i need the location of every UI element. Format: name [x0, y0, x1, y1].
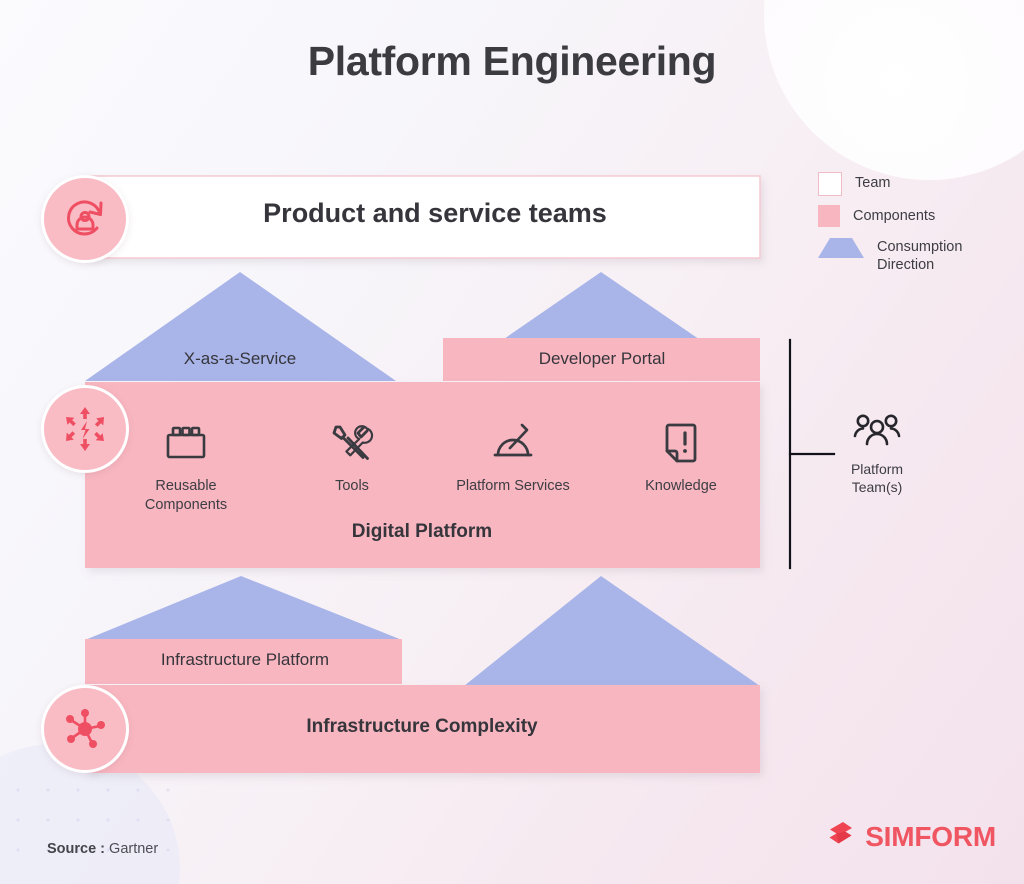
document-alert-icon — [611, 418, 751, 468]
label-digital-platform: Digital Platform — [262, 521, 582, 543]
source-value: Gartner — [109, 841, 158, 857]
service-bell-icon — [443, 418, 583, 468]
label-infrastructure-complexity: Infrastructure Complexity — [120, 716, 724, 738]
legend-item-components: Components — [818, 205, 1008, 227]
legend-swatch-consumption-triangle-icon — [818, 238, 864, 258]
platform-feature-label: Reusable Components — [116, 477, 256, 514]
legend-item-consumption-direction: Consumption Direction — [818, 236, 1008, 274]
platform-team-label-line2: Team(s) — [822, 478, 932, 496]
platform-feature-label: Knowledge — [611, 477, 751, 496]
lego-brick-icon — [116, 418, 256, 468]
platform-feature-reusable-components: Reusable Components — [116, 418, 256, 514]
legend-label-team: Team — [855, 172, 890, 192]
page-title: Platform Engineering — [0, 38, 1024, 85]
label-product-service-teams: Product and service teams — [110, 198, 760, 229]
legend-label-consumption-direction: Consumption Direction — [877, 236, 982, 274]
brand-wordmark: SIMFORM — [865, 821, 996, 853]
user-refresh-icon — [60, 194, 110, 244]
platform-team-label-line1: Platform — [822, 460, 932, 478]
people-group-icon — [853, 410, 901, 448]
platform-feature-tools: Tools — [282, 418, 422, 496]
platform-feature-label: Tools — [282, 477, 422, 496]
platform-feature-platform-services: Platform Services — [443, 418, 583, 496]
side-badge-product-service-teams — [41, 175, 129, 263]
platform-feature-knowledge: Knowledge — [611, 418, 751, 496]
consumption-triangle-infrastructure-complexity — [464, 576, 760, 686]
source-attribution: Source : Gartner — [47, 841, 158, 857]
side-badge-infrastructure-complexity — [41, 685, 129, 773]
label-developer-portal: Developer Portal — [444, 349, 760, 369]
tools-icon — [282, 418, 422, 468]
legend-swatch-team-icon — [818, 172, 842, 196]
brand-logo: SIMFORM — [824, 820, 996, 854]
legend-item-team: Team — [818, 172, 1008, 196]
legend: Team Components Consumption Direction — [818, 172, 1008, 283]
platform-feature-label: Platform Services — [443, 477, 583, 496]
platform-team-label: Platform Team(s) — [822, 460, 932, 496]
consumption-triangle-infrastructure-platform — [85, 576, 402, 640]
source-label: Source : — [47, 841, 105, 857]
legend-label-components: Components — [853, 205, 935, 225]
diagram-canvas: Platform Engineering Team Components Con… — [0, 0, 1024, 884]
side-badge-digital-platform — [41, 385, 129, 473]
lightning-expand-icon — [59, 403, 111, 455]
decorative-dot-pattern — [8, 778, 198, 878]
legend-swatch-components-icon — [818, 205, 840, 227]
decorative-blob-top-right — [764, 0, 1024, 180]
platform-team-block: Platform Team(s) — [822, 410, 932, 496]
label-x-as-a-service: X-as-a-Service — [100, 349, 380, 369]
label-infrastructure-platform: Infrastructure Platform — [88, 650, 402, 670]
simform-mark-icon — [824, 820, 858, 854]
network-nodes-icon — [59, 703, 111, 755]
